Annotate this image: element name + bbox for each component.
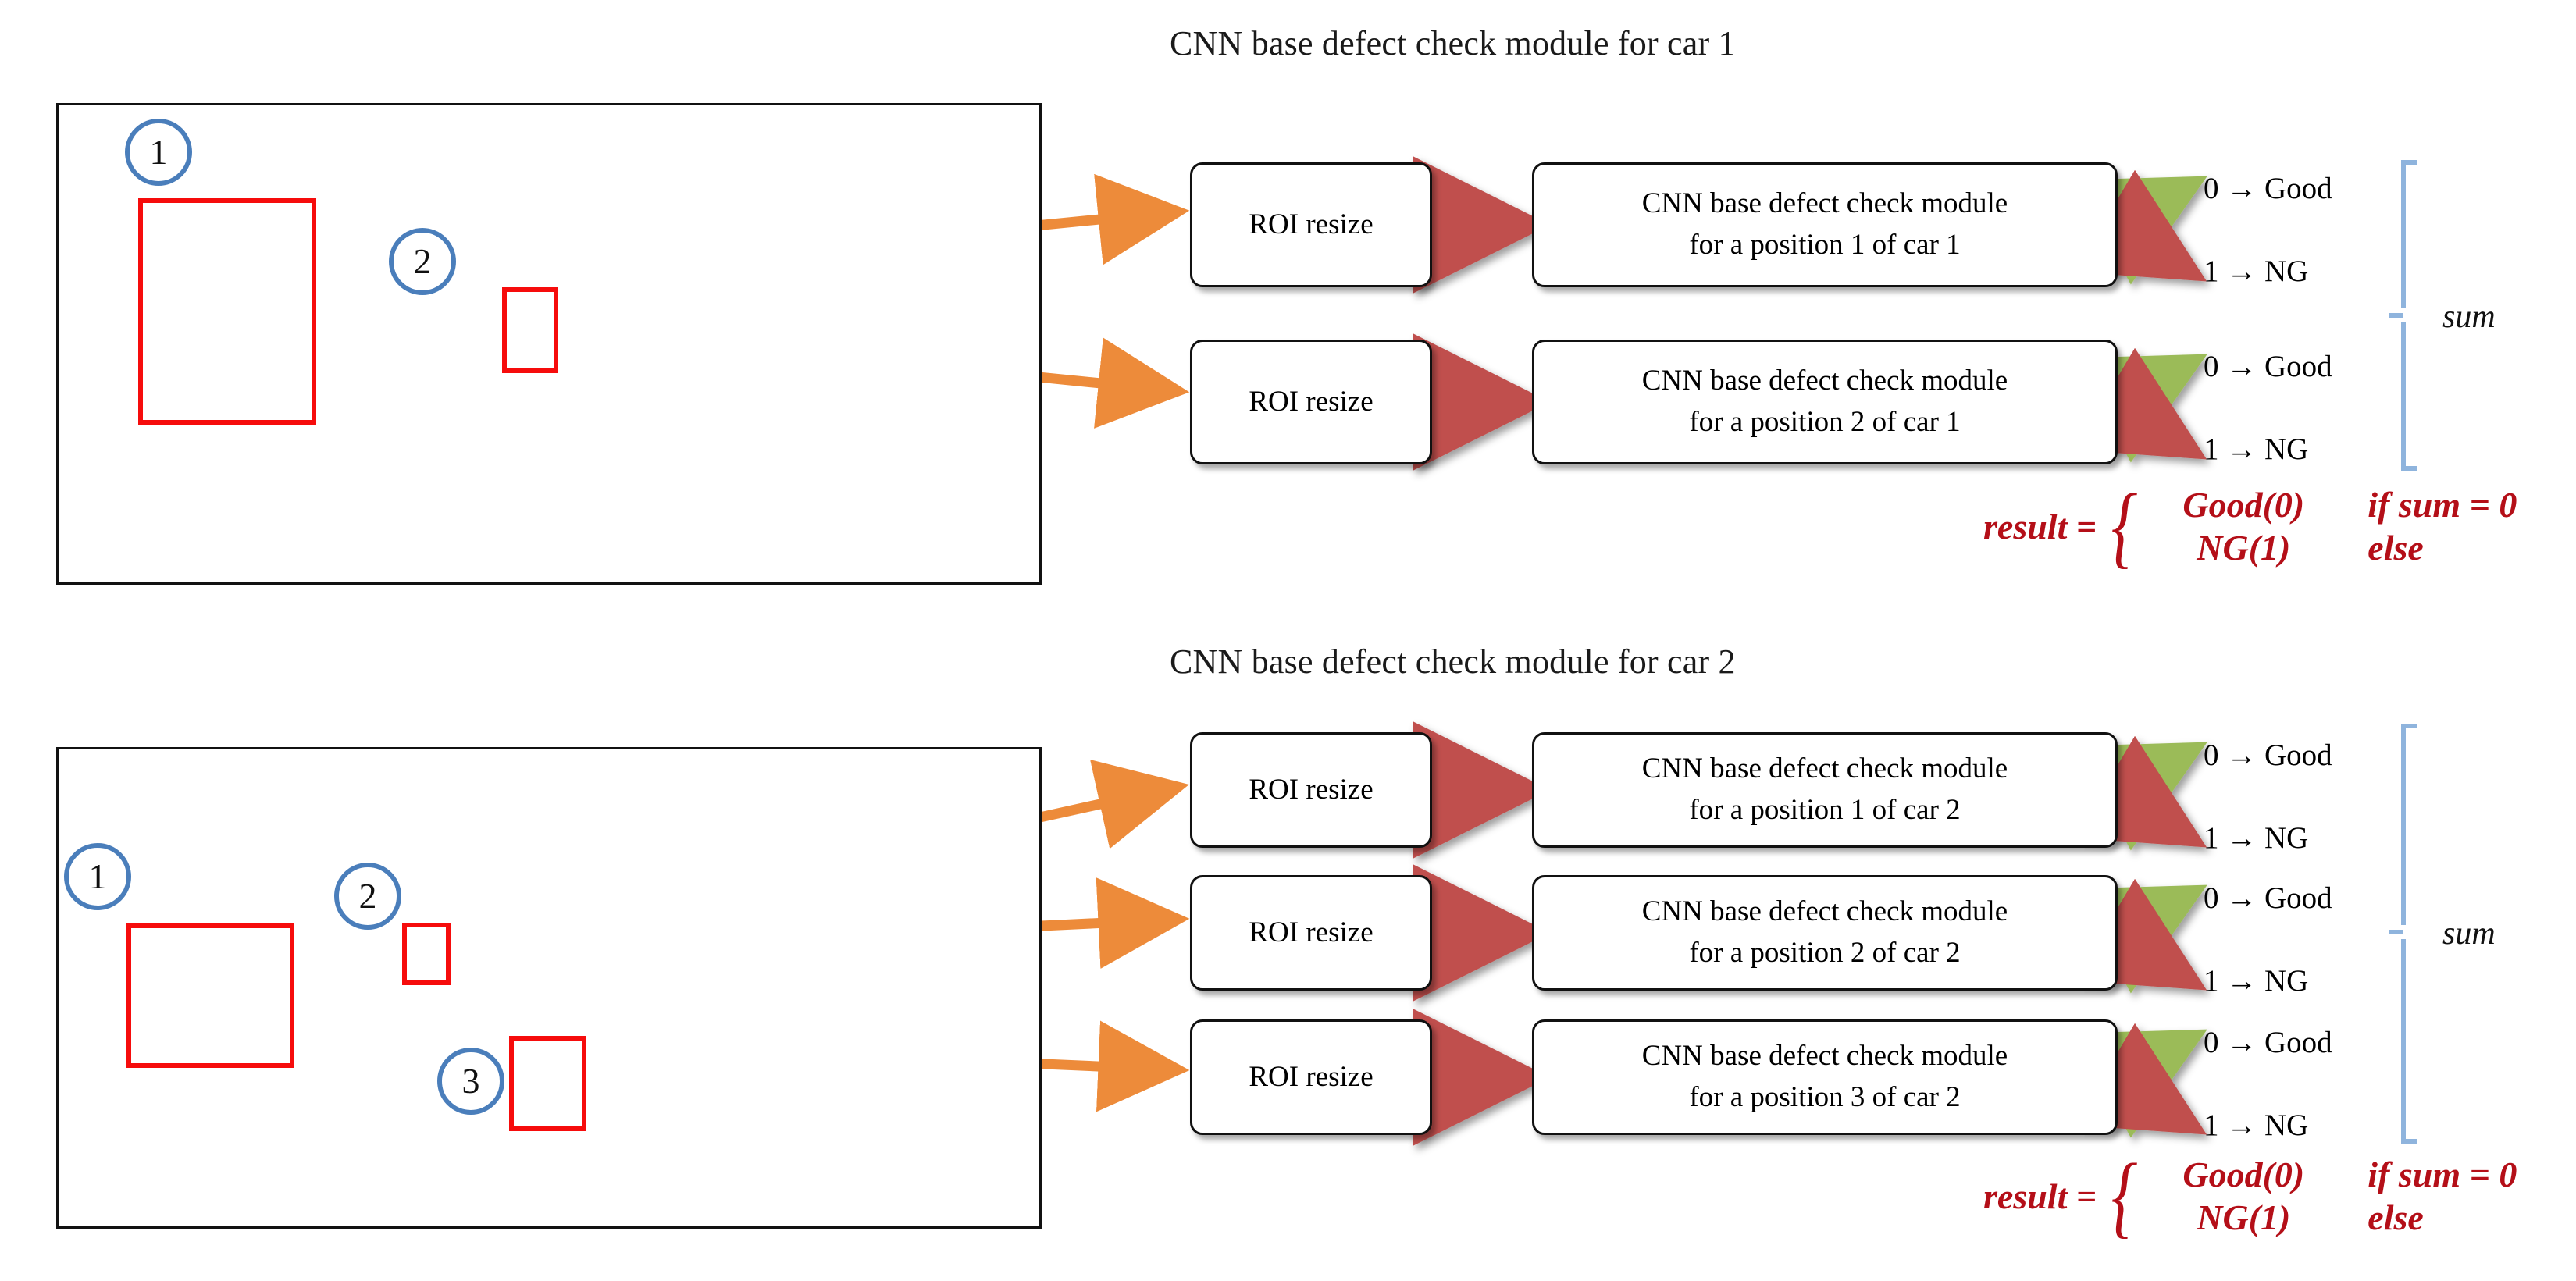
callout-label: 1 (89, 859, 107, 895)
formula-lhs: result = (1983, 506, 2097, 547)
callout-car1-2: 2 (389, 228, 456, 295)
cnn-module-line1: CNN base defect check module (1642, 365, 2008, 397)
roi-box-car1-position-1 (138, 198, 316, 425)
outcome-good-car2-row3: 0 → Good (2204, 1027, 2332, 1058)
formula-lhs: result = (1983, 1176, 2097, 1217)
cnn-module-line1: CNN base defect check module (1642, 895, 2008, 927)
callout-label: 3 (462, 1063, 480, 1099)
result-formula-car-1: result = { Good(0) if sum = 0 NG(1) else (1983, 484, 2517, 568)
cnn-module-box-car1-row1[interactable]: CNN base defect check module for a posit… (1532, 162, 2118, 287)
sum-label-car-2: sum (2442, 915, 2496, 952)
outcome-ng-car1-row2: 1 → NG (2204, 434, 2308, 464)
roi-resize-box-car2-row3[interactable]: ROI resize (1190, 1019, 1432, 1135)
branch-arrows (2114, 187, 2186, 1123)
outcome-ng-car2-row1: 1 → NG (2204, 823, 2308, 853)
roi-resize-label: ROI resize (1238, 770, 1384, 811)
cnn-module-line2: for a position 2 of car 2 (1689, 937, 1960, 969)
roi-box-car2-position-1 (126, 923, 294, 1068)
outcome-ng-car1-row1: 1 → NG (2204, 256, 2308, 286)
callout-car2-3: 3 (437, 1048, 504, 1115)
callout-label: 2 (359, 878, 377, 914)
cnn-module-label: CNN base defect check module for a posit… (1631, 183, 2018, 265)
cnn-module-line2: for a position 1 of car 1 (1689, 229, 1960, 261)
outcome-ng-car2-row3: 1 → NG (2204, 1110, 2308, 1140)
formula-row1-cond: if sum = 0 (2341, 484, 2517, 525)
cnn-module-label: CNN base defect check module for a posit… (1631, 749, 2018, 831)
cnn-module-box-car2-row1[interactable]: CNN base defect check module for a posit… (1532, 732, 2118, 848)
cnn-module-box-car1-row2[interactable]: CNN base defect check module for a posit… (1532, 340, 2118, 464)
roi-resize-label: ROI resize (1238, 1057, 1384, 1098)
callout-label: 2 (414, 244, 432, 279)
outcome-ng-car2-row2: 1 → NG (2204, 966, 2308, 996)
formula-row1-cond: if sum = 0 (2341, 1154, 2517, 1195)
sum-label-car-1: sum (2442, 298, 2496, 336)
section-title-car-1: CNN base defect check module for car 1 (1170, 23, 1736, 63)
cnn-module-box-car2-row2[interactable]: CNN base defect check module for a posit… (1532, 875, 2118, 991)
callout-car1-1: 1 (125, 119, 192, 186)
roi-box-car1-position-2 (502, 287, 558, 373)
cnn-module-box-car2-row3[interactable]: CNN base defect check module for a posit… (1532, 1019, 2118, 1135)
formula-row2-value: NG(1) (2146, 527, 2341, 568)
formula-row1-value: Good(0) (2146, 1154, 2341, 1195)
callout-label: 1 (150, 134, 168, 170)
roi-resize-label: ROI resize (1238, 382, 1384, 423)
roi-resize-box-car1-row1[interactable]: ROI resize (1190, 162, 1432, 287)
roi-resize-box-car2-row1[interactable]: ROI resize (1190, 732, 1432, 848)
callout-car2-1: 1 (64, 843, 131, 910)
cnn-module-line2: for a position 3 of car 2 (1689, 1081, 1960, 1113)
formula-row1-value: Good(0) (2146, 484, 2341, 525)
outcome-good-car2-row1: 0 → Good (2204, 740, 2332, 770)
formula-row2-cond: else (2341, 527, 2424, 568)
sum-bracket-car-1 (2389, 162, 2417, 468)
roi-resize-label: ROI resize (1238, 913, 1384, 954)
roi-resize-label: ROI resize (1238, 205, 1384, 246)
outcome-good-car1-row2: 0 → Good (2204, 351, 2332, 382)
roi-resize-box-car1-row2[interactable]: ROI resize (1190, 340, 1432, 464)
result-formula-car-2: result = { Good(0) if sum = 0 NG(1) else (1983, 1154, 2517, 1238)
roi-box-car2-position-3 (509, 1036, 586, 1131)
cnn-module-line2: for a position 2 of car 1 (1689, 406, 1960, 438)
cnn-module-line1: CNN base defect check module (1642, 753, 2008, 785)
outcome-good-car1-row1: 0 → Good (2204, 173, 2332, 204)
outcome-good-car2-row2: 0 → Good (2204, 883, 2332, 913)
formula-row2-cond: else (2341, 1197, 2424, 1238)
cnn-module-line1: CNN base defect check module (1642, 187, 2008, 219)
formula-brace: { (2111, 487, 2138, 565)
roi-resize-box-car2-row2[interactable]: ROI resize (1190, 875, 1432, 991)
callout-car2-2: 2 (334, 863, 401, 930)
sum-bracket-car-2 (2389, 726, 2417, 1141)
formula-row2-value: NG(1) (2146, 1197, 2341, 1238)
section-title-car-2: CNN base defect check module for car 2 (1170, 642, 1736, 681)
roi-box-car2-position-2 (402, 923, 451, 985)
cnn-module-line1: CNN base defect check module (1642, 1040, 2008, 1072)
cnn-module-label: CNN base defect check module for a posit… (1631, 361, 2018, 443)
cnn-module-label: CNN base defect check module for a posit… (1631, 891, 2018, 973)
formula-brace: { (2111, 1157, 2138, 1235)
cnn-module-label: CNN base defect check module for a posit… (1631, 1036, 2018, 1118)
cnn-module-line2: for a position 1 of car 2 (1689, 794, 1960, 826)
